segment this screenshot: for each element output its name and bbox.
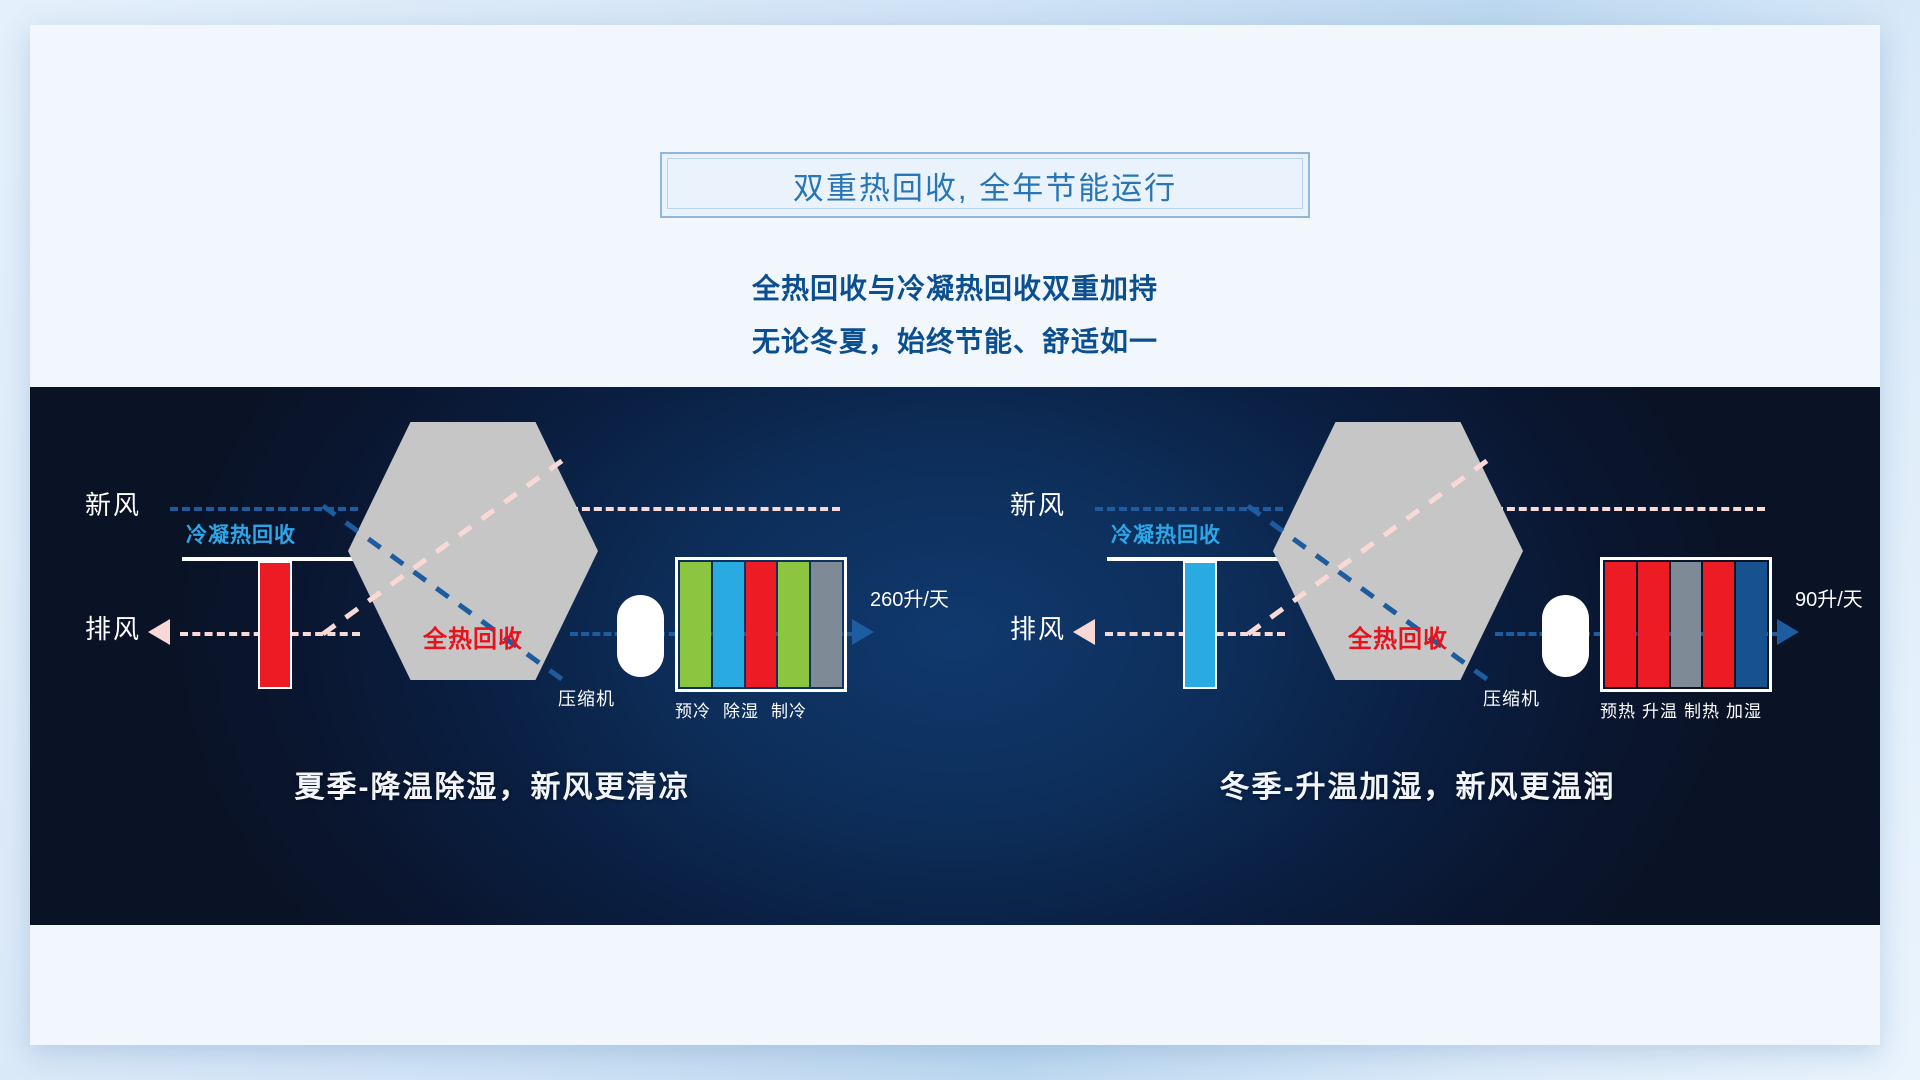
coil-label: 预冷 <box>675 697 711 722</box>
total-heat-recovery-label: 全热回收 <box>348 619 598 654</box>
diagram-winter: 新风 排风 冷凝热回收 全热回收 压缩机 预 <box>955 387 1880 925</box>
filter-coil <box>811 562 842 687</box>
exhaust-arrow-icon <box>148 619 170 645</box>
coil-label: 升温 <box>1642 697 1678 722</box>
content-card: 双重热回收, 全年节能运行 全热回收与冷凝热回收双重加持 无论冬夏，始终节能、舒… <box>30 25 1880 1045</box>
coil-label: 加湿 <box>1726 697 1762 722</box>
condenser-heat-recovery-label: 冷凝热回收 <box>186 519 296 549</box>
coil-labels-winter: 预热升温制热加湿 <box>1600 697 1790 722</box>
coil-label: 除湿 <box>723 697 759 722</box>
temp-rise-coil <box>1638 562 1669 687</box>
coil-label: 制冷 <box>771 697 807 722</box>
subtitle-line-2: 无论冬夏，始终节能、舒适如一 <box>30 320 1880 360</box>
total-heat-exchanger: 全热回收 <box>348 422 598 680</box>
water-output-value: 260升/天 <box>870 583 949 612</box>
title-box: 双重热回收, 全年节能运行 <box>660 152 1310 218</box>
coil-label: 预热 <box>1600 697 1636 722</box>
compressor-label: 压缩机 <box>558 685 615 711</box>
condenser-heat-recovery-label: 冷凝热回收 <box>1111 519 1221 549</box>
condenser-block <box>1183 561 1217 689</box>
pre-cool-coil <box>680 562 711 687</box>
water-output-value: 90升/天 <box>1795 583 1863 612</box>
total-heat-exchanger: 全热回收 <box>1273 422 1523 680</box>
pre-heat-coil <box>1605 562 1636 687</box>
fresh-air-label: 新风 <box>1010 485 1066 522</box>
winter-caption: 冬季-升温加湿，新风更温润 <box>955 762 1880 806</box>
fresh-air-label: 新风 <box>85 485 141 522</box>
summer-caption: 夏季-降温除湿，新风更清凉 <box>30 762 955 806</box>
condenser-block <box>258 561 292 689</box>
exhaust-air-outlet-flow <box>570 507 840 511</box>
reheat-coil <box>778 562 809 687</box>
cooling-coil <box>746 562 777 687</box>
compressor-unit <box>1542 595 1589 677</box>
supply-arrow-icon <box>1777 619 1799 645</box>
subtitle-line-1: 全热回收与冷凝热回收双重加持 <box>30 267 1880 307</box>
heating-coil <box>1703 562 1734 687</box>
diagram-panel: 新风 排风 冷凝热回收 全热回收 压缩机 预 <box>30 387 1880 925</box>
exhaust-air-label: 排风 <box>1010 609 1066 646</box>
coil-assembly-summer <box>675 557 847 692</box>
page-title: 双重热回收, 全年节能运行 <box>662 154 1308 216</box>
humidify-coil <box>1736 562 1767 687</box>
exhaust-arrow-icon <box>1073 619 1095 645</box>
supply-arrow-icon <box>852 619 874 645</box>
compressor-unit <box>617 595 664 677</box>
total-heat-recovery-label: 全热回收 <box>1273 619 1523 654</box>
dehumidify-coil <box>713 562 744 687</box>
coil-label: 制热 <box>1684 697 1720 722</box>
coil-assembly-winter <box>1600 557 1772 692</box>
compressor-label: 压缩机 <box>1483 685 1540 711</box>
filter-coil <box>1671 562 1702 687</box>
diagram-summer: 新风 排风 冷凝热回收 全热回收 压缩机 预 <box>30 387 955 925</box>
exhaust-air-label: 排风 <box>85 609 141 646</box>
exhaust-air-outlet-flow <box>1495 507 1765 511</box>
coil-labels-summer: 预冷除湿制冷 <box>675 697 865 722</box>
